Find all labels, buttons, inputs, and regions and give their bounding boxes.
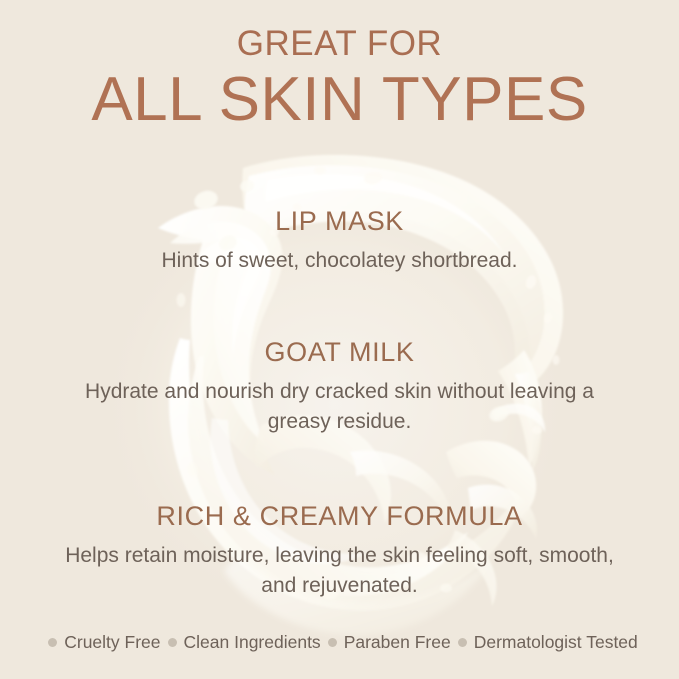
- feature-rich-creamy-formula: RICH & CREAMY FORMULA Helps retain moist…: [0, 502, 679, 602]
- bullet-dot-icon: [328, 638, 337, 647]
- headline-line-1: GREAT FOR: [0, 26, 679, 61]
- product-feature-poster: GREAT FOR ALL SKIN TYPES LIP MASK Hints …: [0, 0, 679, 679]
- feature-title: LIP MASK: [0, 207, 679, 237]
- bullet-dot-icon: [48, 638, 57, 647]
- claims-badge-row: Cruelty Free Clean Ingredients Paraben F…: [0, 632, 679, 653]
- feature-description: Hints of sweet, chocolatey shortbread.: [0, 246, 679, 276]
- bullet-dot-icon: [458, 638, 467, 647]
- badge-label: Dermatologist Tested: [474, 632, 638, 653]
- badge-dermatologist-tested: Dermatologist Tested: [451, 632, 638, 653]
- bullet-dot-icon: [168, 638, 177, 647]
- feature-description: Helps retain moisture, leaving the skin …: [0, 541, 679, 602]
- badge-label: Clean Ingredients: [184, 632, 321, 653]
- headline-line-2: ALL SKIN TYPES: [0, 67, 679, 134]
- badge-paraben-free: Paraben Free: [321, 632, 451, 653]
- feature-title: GOAT MILK: [0, 338, 679, 368]
- badge-label: Cruelty Free: [64, 632, 160, 653]
- badge-label: Paraben Free: [344, 632, 451, 653]
- feature-description: Hydrate and nourish dry cracked skin wit…: [0, 377, 679, 438]
- feature-title: RICH & CREAMY FORMULA: [0, 502, 679, 532]
- badge-cruelty-free: Cruelty Free: [41, 632, 160, 653]
- feature-goat-milk: GOAT MILK Hydrate and nourish dry cracke…: [0, 338, 679, 438]
- headline-block: GREAT FOR ALL SKIN TYPES: [0, 26, 679, 134]
- feature-lip-mask: LIP MASK Hints of sweet, chocolatey shor…: [0, 207, 679, 276]
- badge-clean-ingredients: Clean Ingredients: [161, 632, 321, 653]
